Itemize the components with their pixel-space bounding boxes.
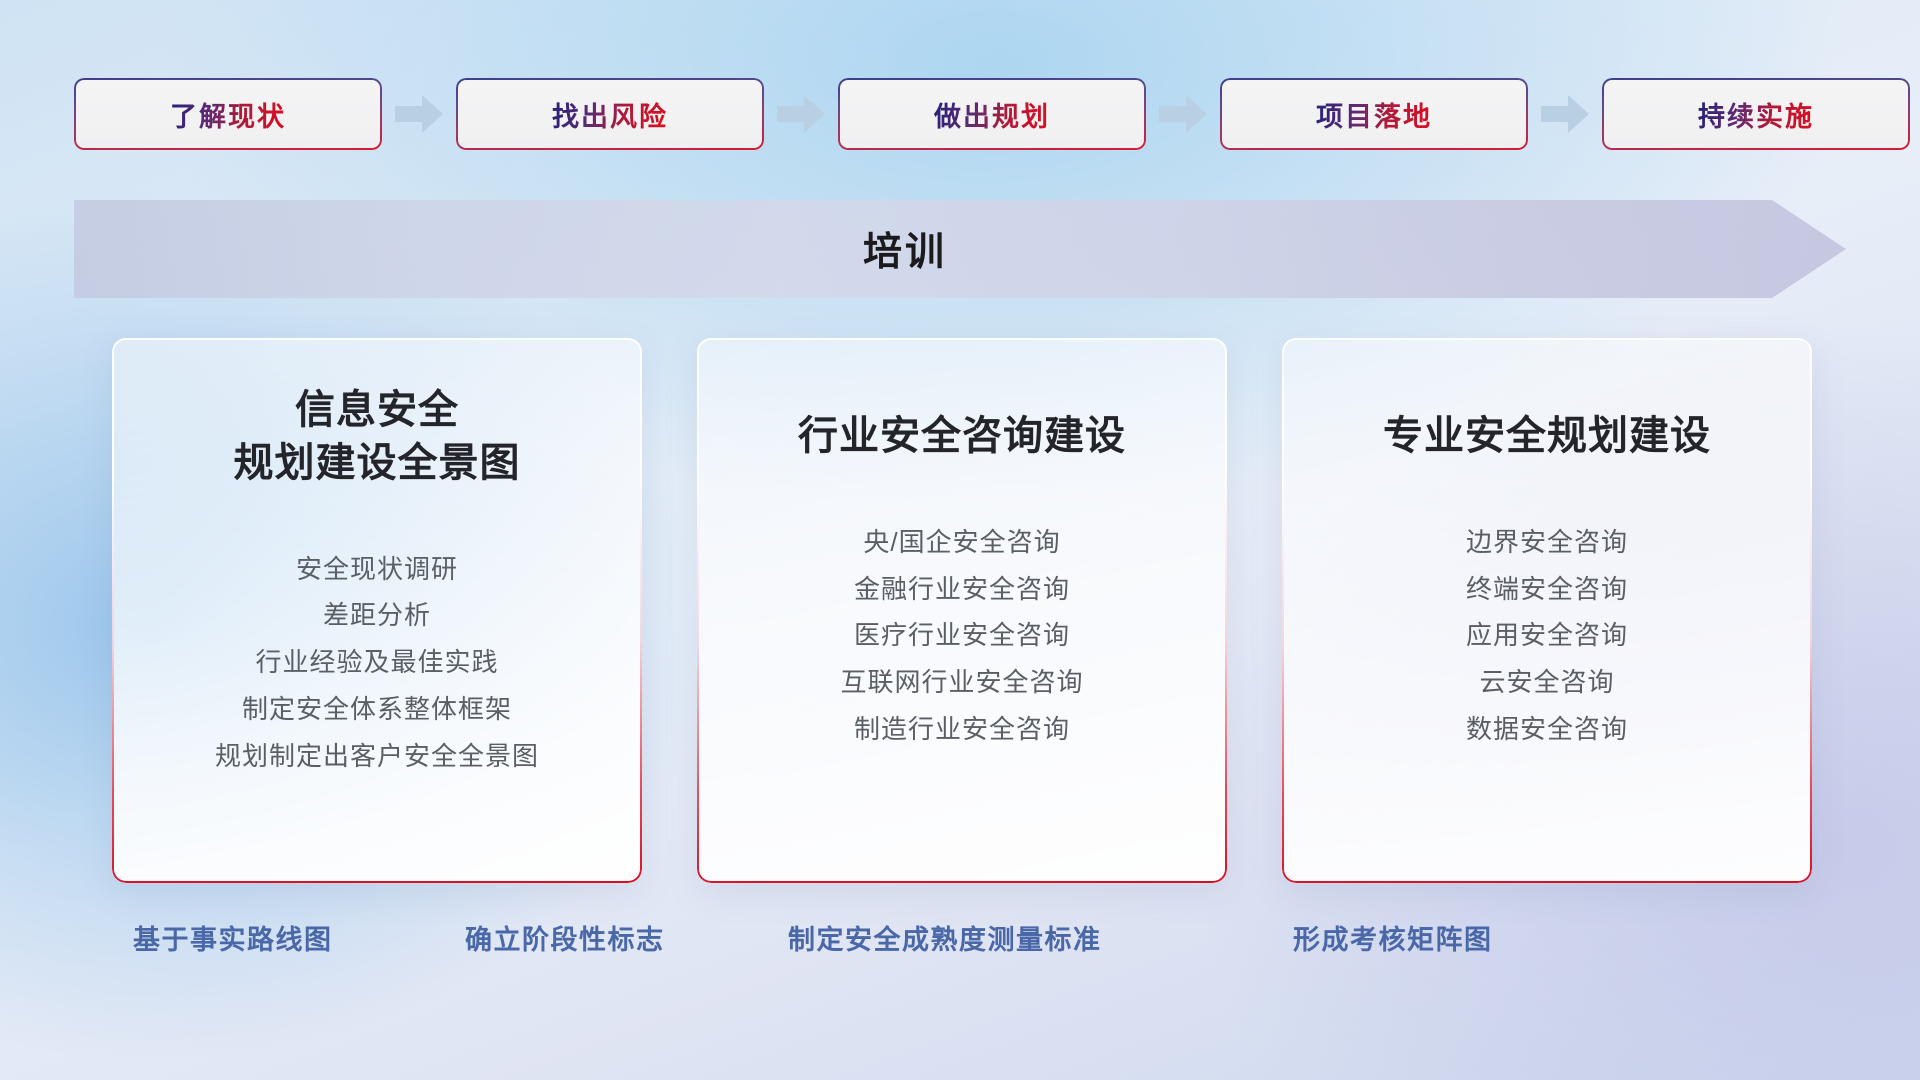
caption-4: 形成考核矩阵图	[1293, 918, 1493, 957]
arrow-right-icon	[773, 92, 829, 136]
arrow-right-icon	[1155, 92, 1211, 136]
card-divider	[1317, 487, 1777, 500]
list-item: 云安全咨询	[1479, 666, 1614, 700]
list-item: 数据安全咨询	[1466, 713, 1628, 747]
list-item: 行业经验及最佳实践	[255, 646, 498, 680]
list-item: 互联网行业安全咨询	[840, 666, 1083, 700]
caption-1: 基于事实路线图	[133, 918, 333, 957]
list-item: 规划制定出客户安全全景图	[215, 740, 539, 774]
list-item: 央/国企安全咨询	[863, 526, 1060, 560]
card-1[interactable]: 信息安全 规划建设全景图 安全现状调研 差距分析 行业经验及最佳实践 制定安全体…	[112, 338, 642, 883]
card-title: 专业安全规划建设	[1383, 410, 1711, 463]
step-label: 了解现状	[170, 95, 286, 134]
step-label: 持续实施	[1698, 95, 1814, 134]
card-content: 行业安全咨询建设 央/国企安全咨询 金融行业安全咨询 医疗行业安全咨询 互联网行…	[697, 338, 1227, 883]
list-item: 制造行业安全咨询	[854, 713, 1070, 747]
divider-wrap	[138, 490, 616, 527]
list-item: 医疗行业安全咨询	[854, 619, 1070, 653]
step-box-4[interactable]: 项目落地	[1220, 78, 1528, 150]
step-box-1[interactable]: 了解现状	[74, 78, 382, 150]
step-box-2[interactable]: 找出风险	[456, 78, 764, 150]
step-label: 找出风险	[552, 95, 668, 134]
list-item: 金融行业安全咨询	[854, 573, 1070, 607]
caption-2: 确立阶段性标志	[465, 918, 665, 957]
card-content: 信息安全 规划建设全景图 安全现状调研 差距分析 行业经验及最佳实践 制定安全体…	[112, 338, 642, 883]
card-item-list: 央/国企安全咨询 金融行业安全咨询 医疗行业安全咨询 互联网行业安全咨询 制造行…	[723, 526, 1201, 747]
card-content: 专业安全规划建设 边界安全咨询 终端安全咨询 应用安全咨询 云安全咨询 数据安全…	[1282, 338, 1812, 883]
list-item: 安全现状调研	[296, 553, 458, 587]
list-item: 制定安全体系整体框架	[242, 693, 512, 727]
card-2[interactable]: 行业安全咨询建设 央/国企安全咨询 金融行业安全咨询 医疗行业安全咨询 互联网行…	[697, 338, 1227, 883]
training-banner: 培训	[74, 200, 1846, 298]
step-box-3[interactable]: 做出规划	[838, 78, 1146, 150]
process-step-row: 了解现状 找出风险 做出规划 项目落地	[74, 78, 1846, 150]
list-item: 边界安全咨询	[1466, 526, 1628, 560]
card-title: 信息安全 规划建设全景图	[234, 384, 521, 490]
caption-row: 基于事实路线图 确立阶段性标志 制定安全成熟度测量标准 形成考核矩阵图	[0, 918, 1920, 968]
card-divider	[732, 487, 1192, 500]
list-item: 差距分析	[323, 599, 431, 633]
list-item: 终端安全咨询	[1466, 573, 1628, 607]
divider-wrap	[723, 463, 1201, 500]
card-item-list: 边界安全咨询 终端安全咨询 应用安全咨询 云安全咨询 数据安全咨询	[1308, 526, 1786, 747]
step-label: 做出规划	[934, 95, 1050, 134]
card-divider	[147, 514, 607, 527]
arrow-right-icon	[391, 92, 447, 136]
slide-canvas: 了解现状 找出风险 做出规划 项目落地	[0, 0, 1920, 1080]
step-box-5[interactable]: 持续实施	[1602, 78, 1910, 150]
divider-wrap	[1308, 463, 1786, 500]
caption-3: 制定安全成熟度测量标准	[788, 918, 1102, 957]
card-3[interactable]: 专业安全规划建设 边界安全咨询 终端安全咨询 应用安全咨询 云安全咨询 数据安全…	[1282, 338, 1812, 883]
card-row: 信息安全 规划建设全景图 安全现状调研 差距分析 行业经验及最佳实践 制定安全体…	[112, 338, 1812, 883]
card-item-list: 安全现状调研 差距分析 行业经验及最佳实践 制定安全体系整体框架 规划制定出客户…	[138, 553, 616, 774]
arrow-right-icon	[1537, 92, 1593, 136]
banner-title: 培训	[74, 200, 1846, 298]
list-item: 应用安全咨询	[1466, 619, 1628, 653]
card-title: 行业安全咨询建设	[798, 410, 1126, 463]
step-label: 项目落地	[1316, 95, 1432, 134]
